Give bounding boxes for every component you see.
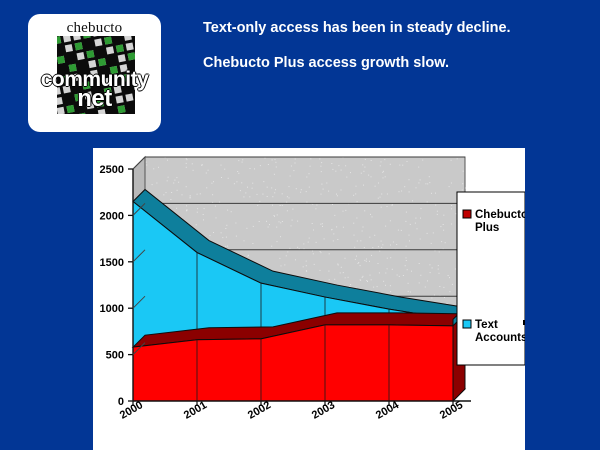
texture-dot: [242, 162, 243, 163]
texture-dot: [437, 211, 438, 212]
texture-dot: [280, 205, 281, 206]
legend-label-line2: Accounts: [475, 332, 525, 344]
texture-dot: [338, 265, 339, 266]
texture-dot: [381, 194, 382, 195]
legend-label-line1: Text: [475, 319, 498, 331]
texture-dot: [326, 183, 327, 184]
texture-dot: [306, 270, 307, 271]
texture-dot: [235, 223, 236, 224]
texture-dot: [360, 240, 361, 241]
texture-dot: [252, 243, 253, 244]
texture-dot: [320, 252, 321, 253]
texture-dot: [240, 190, 241, 191]
chart-legend[interactable]: ChebuctoPlusTextAccounts: [457, 192, 525, 365]
texture-dot: [200, 193, 201, 194]
texture-dot: [370, 275, 371, 276]
texture-dot: [268, 227, 269, 228]
texture-dot: [186, 205, 187, 206]
texture-dot: [385, 226, 386, 227]
texture-dot: [410, 292, 411, 293]
bullet-text-1: Text-only access has been in steady decl…: [203, 20, 583, 36]
texture-dot: [432, 267, 433, 268]
texture-dot: [380, 165, 381, 166]
texture-dot: [381, 247, 382, 248]
logo-chebucto-text: chebucto: [28, 20, 161, 37]
texture-dot: [431, 193, 432, 194]
texture-dot: [323, 189, 324, 190]
texture-dot: [291, 166, 292, 167]
texture-dot: [378, 183, 379, 184]
texture-dot: [371, 160, 372, 161]
texture-dot: [451, 160, 452, 161]
x-tick-label: 2004: [374, 399, 402, 422]
texture-dot: [382, 172, 383, 173]
texture-dot: [387, 206, 388, 207]
texture-dot: [399, 165, 400, 166]
texture-dot: [237, 171, 238, 172]
x-tick-label: 2001: [182, 399, 209, 422]
texture-dot: [438, 269, 439, 270]
texture-dot: [343, 211, 344, 212]
texture-dot: [382, 244, 383, 245]
texture-dot: [197, 208, 198, 209]
texture-dot: [313, 253, 314, 254]
texture-dot: [369, 237, 370, 238]
texture-dot: [340, 272, 341, 273]
texture-dot: [387, 268, 388, 269]
texture-dot: [418, 167, 419, 168]
texture-dot: [415, 218, 416, 219]
texture-dot: [372, 216, 373, 217]
texture-dot: [300, 192, 301, 193]
texture-dot: [345, 277, 346, 278]
texture-dot: [329, 253, 330, 254]
texture-dot: [259, 201, 260, 202]
texture-dot: [310, 166, 311, 167]
texture-dot: [373, 287, 374, 288]
texture-dot: [358, 263, 359, 264]
texture-dot: [366, 259, 367, 260]
texture-dot: [168, 177, 169, 178]
texture-dot: [274, 174, 275, 175]
texture-dot: [355, 193, 356, 194]
texture-dot: [158, 167, 159, 168]
y-tick-label: 1500: [100, 257, 124, 269]
texture-dot: [297, 247, 298, 248]
texture-dot: [408, 283, 409, 284]
texture-dot: [252, 188, 253, 189]
texture-dot: [236, 236, 237, 237]
texture-dot: [362, 277, 363, 278]
bullet-list: Text-only access has been in steady decl…: [203, 20, 583, 90]
texture-dot: [212, 202, 213, 203]
texture-dot: [361, 173, 362, 174]
texture-dot: [449, 291, 450, 292]
texture-dot: [350, 172, 351, 173]
texture-dot: [192, 163, 193, 164]
texture-dot: [448, 275, 449, 276]
texture-dot: [201, 165, 202, 166]
texture-dot: [306, 177, 307, 178]
texture-dot: [364, 247, 365, 248]
texture-dot: [257, 194, 258, 195]
texture-dot: [287, 210, 288, 211]
texture-dot: [378, 246, 379, 247]
texture-dot: [417, 228, 418, 229]
texture-dot: [341, 190, 342, 191]
texture-dot: [332, 169, 333, 170]
texture-dot: [387, 194, 388, 195]
texture-dot: [377, 286, 378, 287]
texture-dot: [399, 191, 400, 192]
texture-dot: [309, 238, 310, 239]
texture-dot: [312, 223, 313, 224]
texture-dot: [204, 208, 205, 209]
texture-dot: [282, 193, 283, 194]
texture-dot: [231, 211, 232, 212]
texture-dot: [227, 246, 228, 247]
texture-dot: [290, 176, 291, 177]
texture-dot: [397, 275, 398, 276]
texture-dot: [282, 205, 283, 206]
texture-dot: [336, 194, 337, 195]
texture-dot: [362, 164, 363, 165]
texture-dot: [146, 165, 147, 166]
texture-dot: [392, 269, 393, 270]
texture-dot: [401, 191, 402, 192]
texture-dot: [280, 222, 281, 223]
texture-dot: [356, 256, 357, 257]
texture-dot: [331, 163, 332, 164]
texture-dot: [242, 159, 243, 160]
texture-dot: [328, 271, 329, 272]
texture-dot: [371, 255, 372, 256]
texture-dot: [257, 205, 258, 206]
texture-dot: [420, 275, 421, 276]
texture-dot: [390, 164, 391, 165]
texture-dot: [320, 224, 321, 225]
texture-dot: [356, 186, 357, 187]
texture-dot: [429, 264, 430, 265]
texture-dot: [446, 303, 447, 304]
texture-dot: [357, 201, 358, 202]
texture-dot: [443, 215, 444, 216]
texture-dot: [186, 210, 187, 211]
texture-dot: [409, 240, 410, 241]
texture-dot: [289, 248, 290, 249]
texture-dot: [253, 226, 254, 227]
texture-dot: [419, 282, 420, 283]
texture-dot: [427, 280, 428, 281]
texture-dot: [390, 285, 391, 286]
texture-dot: [306, 265, 307, 266]
texture-dot: [182, 194, 183, 195]
texture-dot: [167, 160, 168, 161]
texture-dot: [312, 251, 313, 252]
texture-dot: [306, 191, 307, 192]
texture-dot: [463, 171, 464, 172]
texture-dot: [353, 223, 354, 224]
x-tick-label: 2005: [438, 399, 465, 422]
texture-dot: [390, 257, 391, 258]
texture-dot: [297, 221, 298, 222]
texture-dot: [392, 205, 393, 206]
texture-dot: [272, 205, 273, 206]
texture-dot: [354, 235, 355, 236]
texture-dot: [324, 238, 325, 239]
texture-dot: [222, 237, 223, 238]
texture-dot: [247, 187, 248, 188]
texture-dot: [215, 206, 216, 207]
texture-dot: [306, 261, 307, 262]
texture-dot: [431, 298, 432, 299]
x-axis-ticks: 200020012002200320042005: [118, 399, 465, 422]
texture-dot: [306, 202, 307, 203]
texture-dot: [365, 159, 366, 160]
legend-swatch: [463, 210, 471, 218]
texture-dot: [378, 198, 379, 199]
texture-dot: [441, 241, 442, 242]
texture-dot: [379, 251, 380, 252]
texture-dot: [449, 186, 450, 187]
texture-dot: [455, 213, 456, 214]
texture-dot: [260, 165, 261, 166]
texture-dot: [353, 195, 354, 196]
texture-dot: [295, 159, 296, 160]
texture-dot: [369, 261, 370, 262]
texture-dot: [265, 158, 266, 159]
texture-dot: [462, 190, 463, 191]
texture-dot: [332, 204, 333, 205]
texture-dot: [293, 170, 294, 171]
texture-dot: [393, 242, 394, 243]
texture-dot: [238, 173, 239, 174]
texture-dot: [227, 210, 228, 211]
texture-dot: [455, 269, 456, 270]
texture-dot: [287, 196, 288, 197]
texture-dot: [409, 191, 410, 192]
texture-dot: [390, 291, 391, 292]
texture-dot: [383, 171, 384, 172]
texture-dot: [303, 243, 304, 244]
texture-dot: [252, 183, 253, 184]
texture-dot: [443, 224, 444, 225]
texture-dot: [444, 297, 445, 298]
texture-dot: [337, 239, 338, 240]
bullet-text-2: Chebucto Plus access growth slow.: [203, 55, 583, 71]
texture-dot: [186, 167, 187, 168]
texture-dot: [419, 263, 420, 264]
texture-dot: [267, 196, 268, 197]
logo-inner: chebucto: [28, 14, 161, 132]
texture-dot: [216, 217, 217, 218]
texture-dot: [282, 221, 283, 222]
texture-dot: [406, 260, 407, 261]
texture-dot: [320, 270, 321, 271]
texture-dot: [435, 205, 436, 206]
texture-dot: [338, 165, 339, 166]
texture-dot: [310, 158, 311, 159]
texture-dot: [221, 232, 222, 233]
texture-dot: [384, 159, 385, 160]
texture-dot: [439, 286, 440, 287]
texture-dot: [336, 226, 337, 227]
texture-dot: [409, 235, 410, 236]
texture-dot: [275, 189, 276, 190]
texture-dot: [381, 241, 382, 242]
texture-dot: [406, 257, 407, 258]
legend-swatch: [463, 320, 471, 328]
texture-dot: [275, 159, 276, 160]
texture-dot: [333, 240, 334, 241]
y-tick-label: 2500: [100, 164, 124, 176]
texture-dot: [174, 180, 175, 181]
texture-dot: [439, 273, 440, 274]
texture-dot: [309, 173, 310, 174]
texture-dot: [372, 247, 373, 248]
texture-dot: [186, 186, 187, 187]
texture-dot: [197, 194, 198, 195]
texture-dot: [371, 176, 372, 177]
texture-dot: [171, 192, 172, 193]
texture-dot: [381, 207, 382, 208]
texture-dot: [193, 170, 194, 171]
texture-dot: [314, 264, 315, 265]
texture-dot: [399, 276, 400, 277]
texture-dot: [274, 216, 275, 217]
stacked-area-chart: 0500100015002000250020002001200220032004…: [93, 148, 525, 450]
texture-dot: [405, 221, 406, 222]
texture-dot: [345, 258, 346, 259]
texture-dot: [383, 281, 384, 282]
texture-dot: [212, 194, 213, 195]
texture-dot: [208, 170, 209, 171]
texture-dot: [186, 158, 187, 159]
texture-dot: [197, 212, 198, 213]
texture-dot: [396, 244, 397, 245]
texture-dot: [328, 191, 329, 192]
texture-dot: [206, 173, 207, 174]
texture-dot: [333, 233, 334, 234]
chart-panel: 0500100015002000250020002001200220032004…: [93, 148, 525, 450]
texture-dot: [420, 179, 421, 180]
texture-dot: [268, 164, 269, 165]
texture-dot: [451, 205, 452, 206]
texture-dot: [190, 197, 191, 198]
texture-dot: [379, 272, 380, 273]
texture-dot: [166, 192, 167, 193]
texture-dot: [408, 291, 409, 292]
texture-dot: [248, 255, 249, 256]
texture-dot: [277, 214, 278, 215]
texture-dot: [346, 177, 347, 178]
texture-dot: [462, 183, 463, 184]
texture-dot: [364, 260, 365, 261]
texture-dot: [348, 277, 349, 278]
texture-dot: [170, 199, 171, 200]
texture-dot: [202, 164, 203, 165]
texture-dot: [363, 227, 364, 228]
texture-dot: [280, 236, 281, 237]
texture-dot: [221, 177, 222, 178]
texture-dot: [286, 202, 287, 203]
y-tick-label: 2000: [100, 210, 124, 222]
texture-dot: [398, 230, 399, 231]
texture-dot: [443, 230, 444, 231]
texture-dot: [225, 228, 226, 229]
texture-dot: [321, 171, 322, 172]
texture-dot: [375, 186, 376, 187]
texture-dot: [249, 196, 250, 197]
texture-dot: [421, 208, 422, 209]
texture-dot: [429, 182, 430, 183]
texture-dot: [383, 177, 384, 178]
texture-dot: [234, 183, 235, 184]
texture-dot: [430, 272, 431, 273]
texture-dot: [275, 162, 276, 163]
texture-dot: [226, 237, 227, 238]
slide: chebucto: [0, 0, 600, 450]
texture-dot: [406, 246, 407, 247]
logo-card: chebucto: [28, 14, 161, 132]
texture-dot: [152, 184, 153, 185]
texture-dot: [465, 188, 466, 189]
texture-dot: [263, 181, 264, 182]
texture-dot: [367, 281, 368, 282]
texture-dot: [176, 208, 177, 209]
texture-dot: [244, 240, 245, 241]
texture-dot: [296, 188, 297, 189]
texture-dot: [176, 177, 177, 178]
texture-dot: [341, 267, 342, 268]
texture-dot: [435, 193, 436, 194]
texture-dot: [186, 163, 187, 164]
texture-dot: [385, 273, 386, 274]
texture-dot: [173, 183, 174, 184]
texture-dot: [269, 224, 270, 225]
texture-dot: [238, 160, 239, 161]
texture-dot: [415, 223, 416, 224]
legend-label-line1: Chebucto: [475, 209, 525, 221]
texture-dot: [385, 176, 386, 177]
texture-dot: [322, 226, 323, 227]
texture-dot: [411, 271, 412, 272]
texture-dot: [287, 251, 288, 252]
texture-dot: [295, 259, 296, 260]
texture-dot: [371, 279, 372, 280]
texture-dot: [334, 279, 335, 280]
texture-dot: [360, 279, 361, 280]
texture-dot: [254, 168, 255, 169]
texture-dot: [210, 235, 211, 236]
texture-dot: [380, 197, 381, 198]
texture-dot: [177, 190, 178, 191]
texture-dot: [366, 280, 367, 281]
texture-dot: [406, 212, 407, 213]
texture-dot: [267, 187, 268, 188]
texture-dot: [437, 214, 438, 215]
texture-dot: [219, 202, 220, 203]
legend-resize-handle[interactable]: [523, 320, 525, 325]
texture-dot: [358, 262, 359, 263]
texture-dot: [316, 205, 317, 206]
texture-dot: [438, 265, 439, 266]
texture-dot: [225, 246, 226, 247]
texture-dot: [370, 214, 371, 215]
texture-dot: [186, 159, 187, 160]
texture-dot: [410, 224, 411, 225]
texture-dot: [276, 167, 277, 168]
